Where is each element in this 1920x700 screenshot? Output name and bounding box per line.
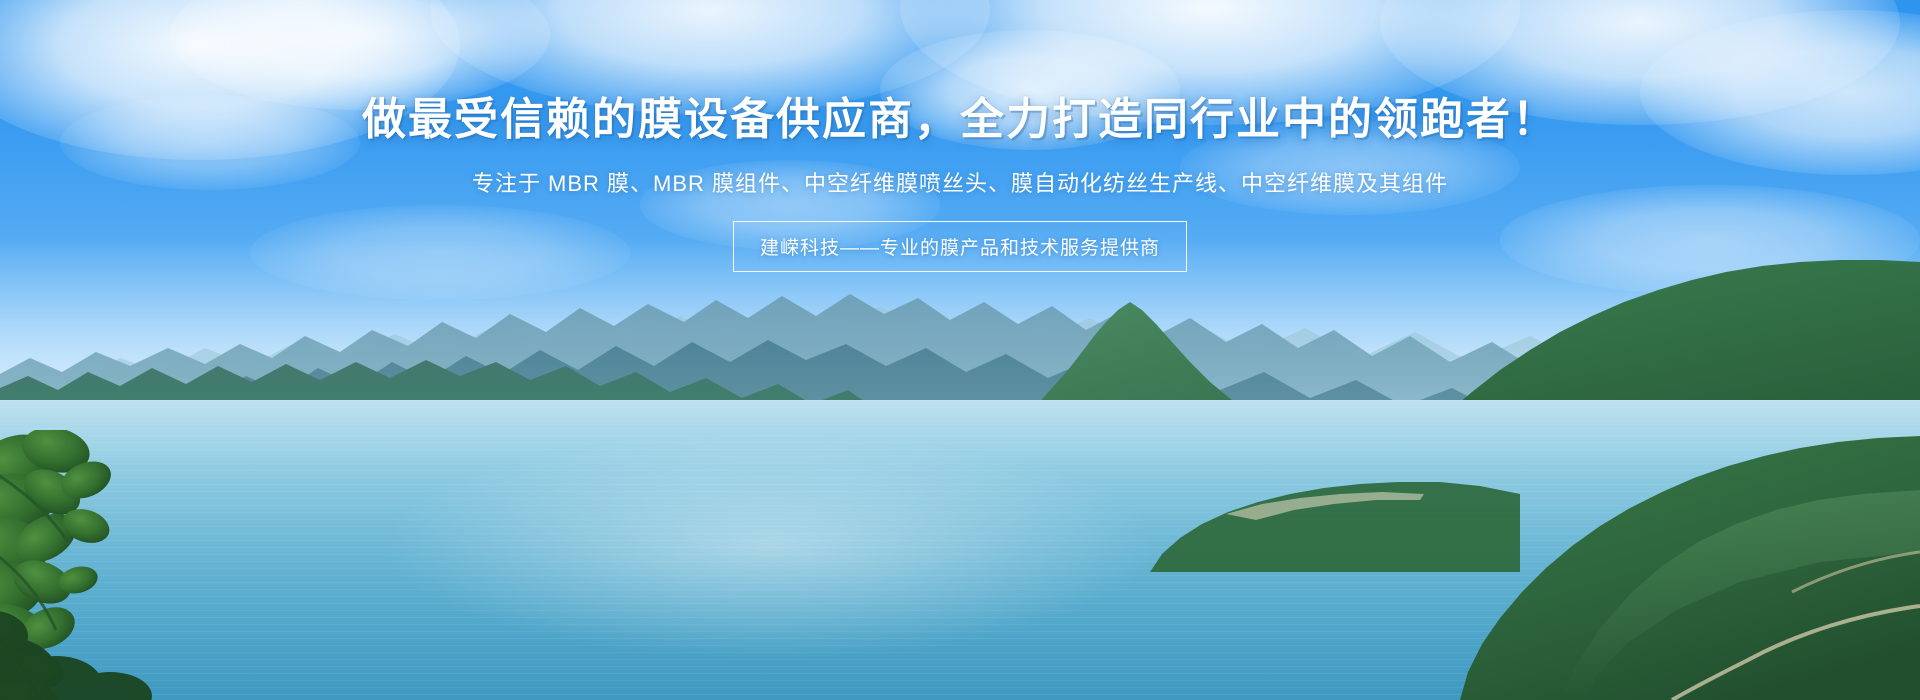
banner-tagline-wrap: 建嵘科技——专业的膜产品和技术服务提供商 (0, 199, 1920, 272)
hero-banner: 做最受信赖的膜设备供应商，全力打造同行业中的领跑者！ 专注于 MBR 膜、MBR… (0, 0, 1920, 700)
banner-subline: 专注于 MBR 膜、MBR 膜组件、中空纤维膜喷丝头、膜自动化纺丝生产线、中空纤… (0, 144, 1920, 199)
banner-headline: 做最受信赖的膜设备供应商，全力打造同行业中的领跑者！ (0, 96, 1920, 144)
shoreline-layer (0, 452, 1920, 572)
banner-tagline-box: 建嵘科技——专业的膜产品和技术服务提供商 (733, 221, 1187, 272)
banner-copy: 做最受信赖的膜设备供应商，全力打造同行业中的领跑者！ 专注于 MBR 膜、MBR… (0, 96, 1920, 272)
